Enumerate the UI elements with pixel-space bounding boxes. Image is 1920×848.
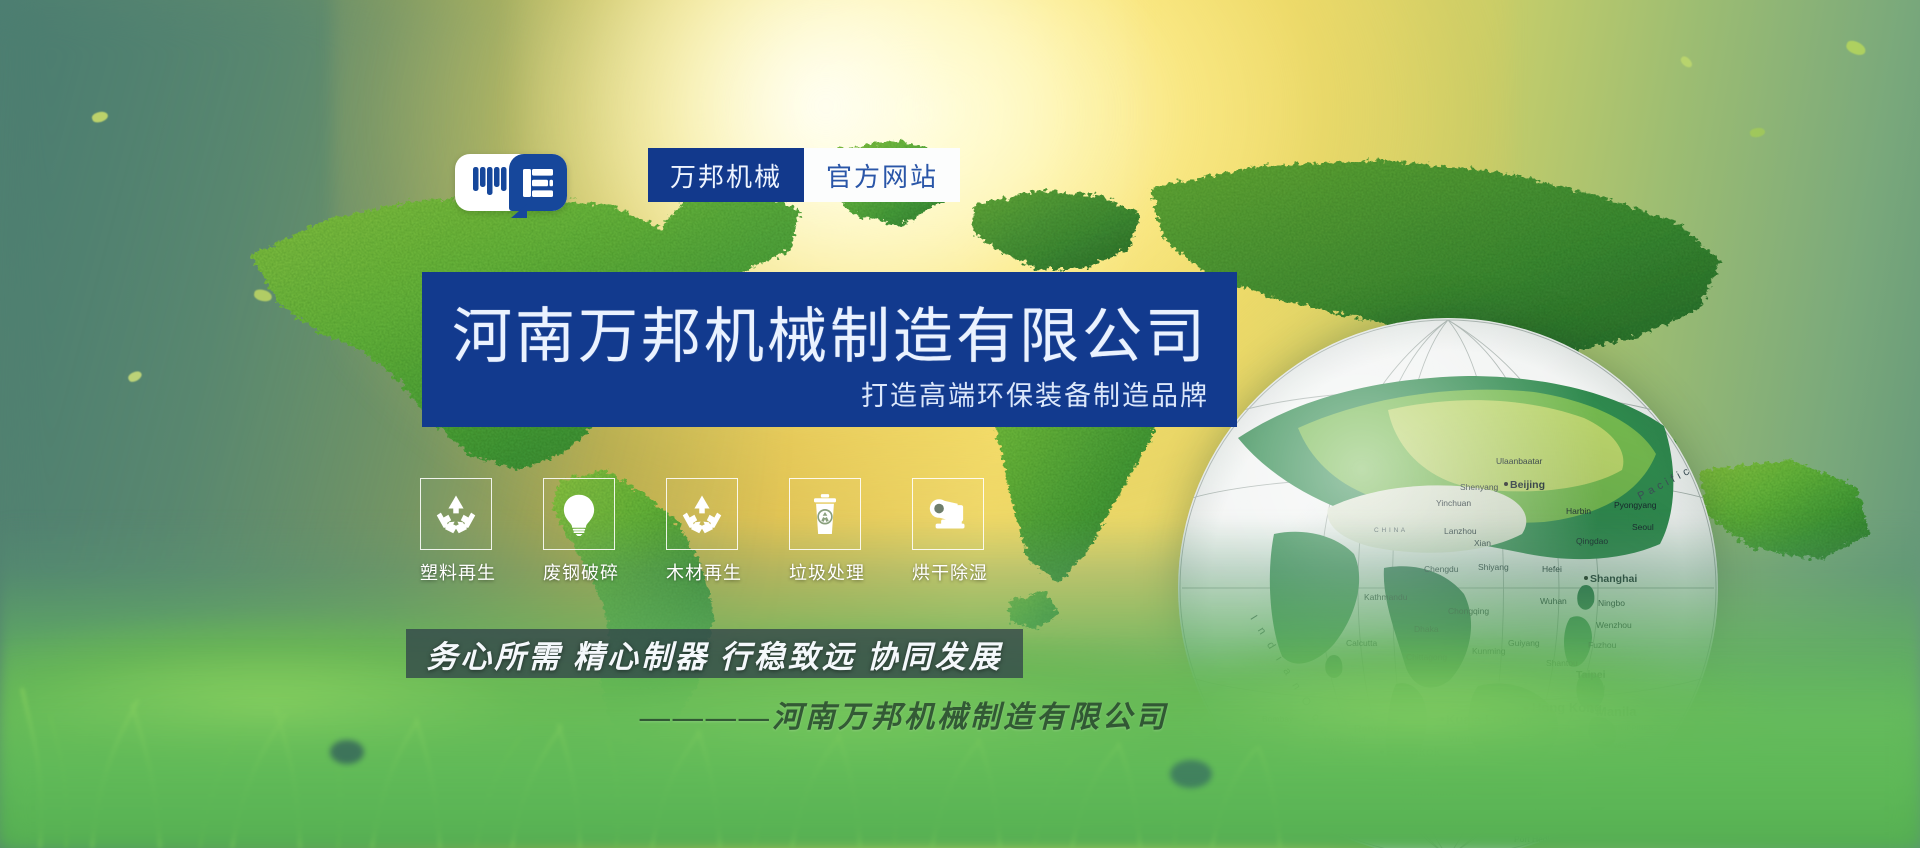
svg-text:Pyongyang: Pyongyang <box>1614 500 1657 510</box>
tab-label: 官方网站 <box>826 157 938 194</box>
service-label: 废钢破碎 <box>543 559 615 585</box>
service-icon-box <box>912 478 984 550</box>
service-item-waste-treatment[interactable]: 垃圾处理 <box>789 478 861 585</box>
recycle-icon <box>434 492 478 536</box>
dryer-blower-icon <box>926 492 970 536</box>
service-item-plastic-recycling[interactable]: 塑料再生 <box>420 478 492 585</box>
nav-tabs: 万邦机械 官方网站 <box>648 148 960 202</box>
tab-official-website[interactable]: 官方网站 <box>804 148 960 202</box>
svg-text:Harbin: Harbin <box>1566 506 1591 516</box>
svg-text:Beijing: Beijing <box>1510 479 1545 491</box>
service-label: 垃圾处理 <box>789 559 861 585</box>
page-title: 河南万邦机械制造有限公司 <box>452 288 1208 375</box>
service-icon-box <box>420 478 492 550</box>
svg-text:Shenyang: Shenyang <box>1460 482 1499 492</box>
tab-label: 万邦机械 <box>670 157 782 194</box>
service-item-scrap-steel-crushing[interactable]: 废钢破碎 <box>543 478 615 585</box>
slogan-text: 务心所需 精心制器 行稳致远 协同发展 <box>406 631 1023 676</box>
hero-title-panel: 河南万邦机械制造有限公司 打造高端环保装备制造品牌 <box>422 272 1237 427</box>
service-item-wood-recycling[interactable]: 木材再生 <box>666 478 738 585</box>
service-icon-row: 塑料再生 废钢破碎 <box>420 478 984 585</box>
recycle-icon <box>680 492 724 536</box>
tab-wanbang-machinery[interactable]: 万邦机械 <box>648 148 804 202</box>
trash-bin-recycle-icon <box>803 492 847 536</box>
service-icon-box <box>789 478 861 550</box>
site-logo[interactable] <box>455 154 567 211</box>
logo-w-mark-icon <box>472 167 508 199</box>
slogan-attribution: ————河南万邦机械制造有限公司 <box>640 692 1260 736</box>
grass-blur-front <box>0 658 1920 848</box>
service-label: 塑料再生 <box>420 559 492 585</box>
logo-e-mark-icon <box>523 169 553 197</box>
lightbulb-icon <box>557 492 601 536</box>
page-subtitle: 打造高端环保装备制造品牌 <box>861 374 1209 413</box>
service-icon-box <box>543 478 615 550</box>
service-item-drying-dehumidification[interactable]: 烘干除湿 <box>912 478 984 585</box>
slogan-banner: 务心所需 精心制器 行稳致远 协同发展 <box>406 629 1023 678</box>
svg-text:Yinchuan: Yinchuan <box>1436 498 1471 508</box>
svg-text:Ulaanbaatar: Ulaanbaatar <box>1496 456 1542 466</box>
service-icon-box <box>666 478 738 550</box>
service-label: 烘干除湿 <box>912 559 984 585</box>
service-label: 木材再生 <box>666 559 738 585</box>
pebble <box>330 740 364 764</box>
hero-banner: I n d i a n O c e a n Pacific Ocean Sout… <box>0 0 1920 848</box>
pebble <box>1170 760 1212 788</box>
